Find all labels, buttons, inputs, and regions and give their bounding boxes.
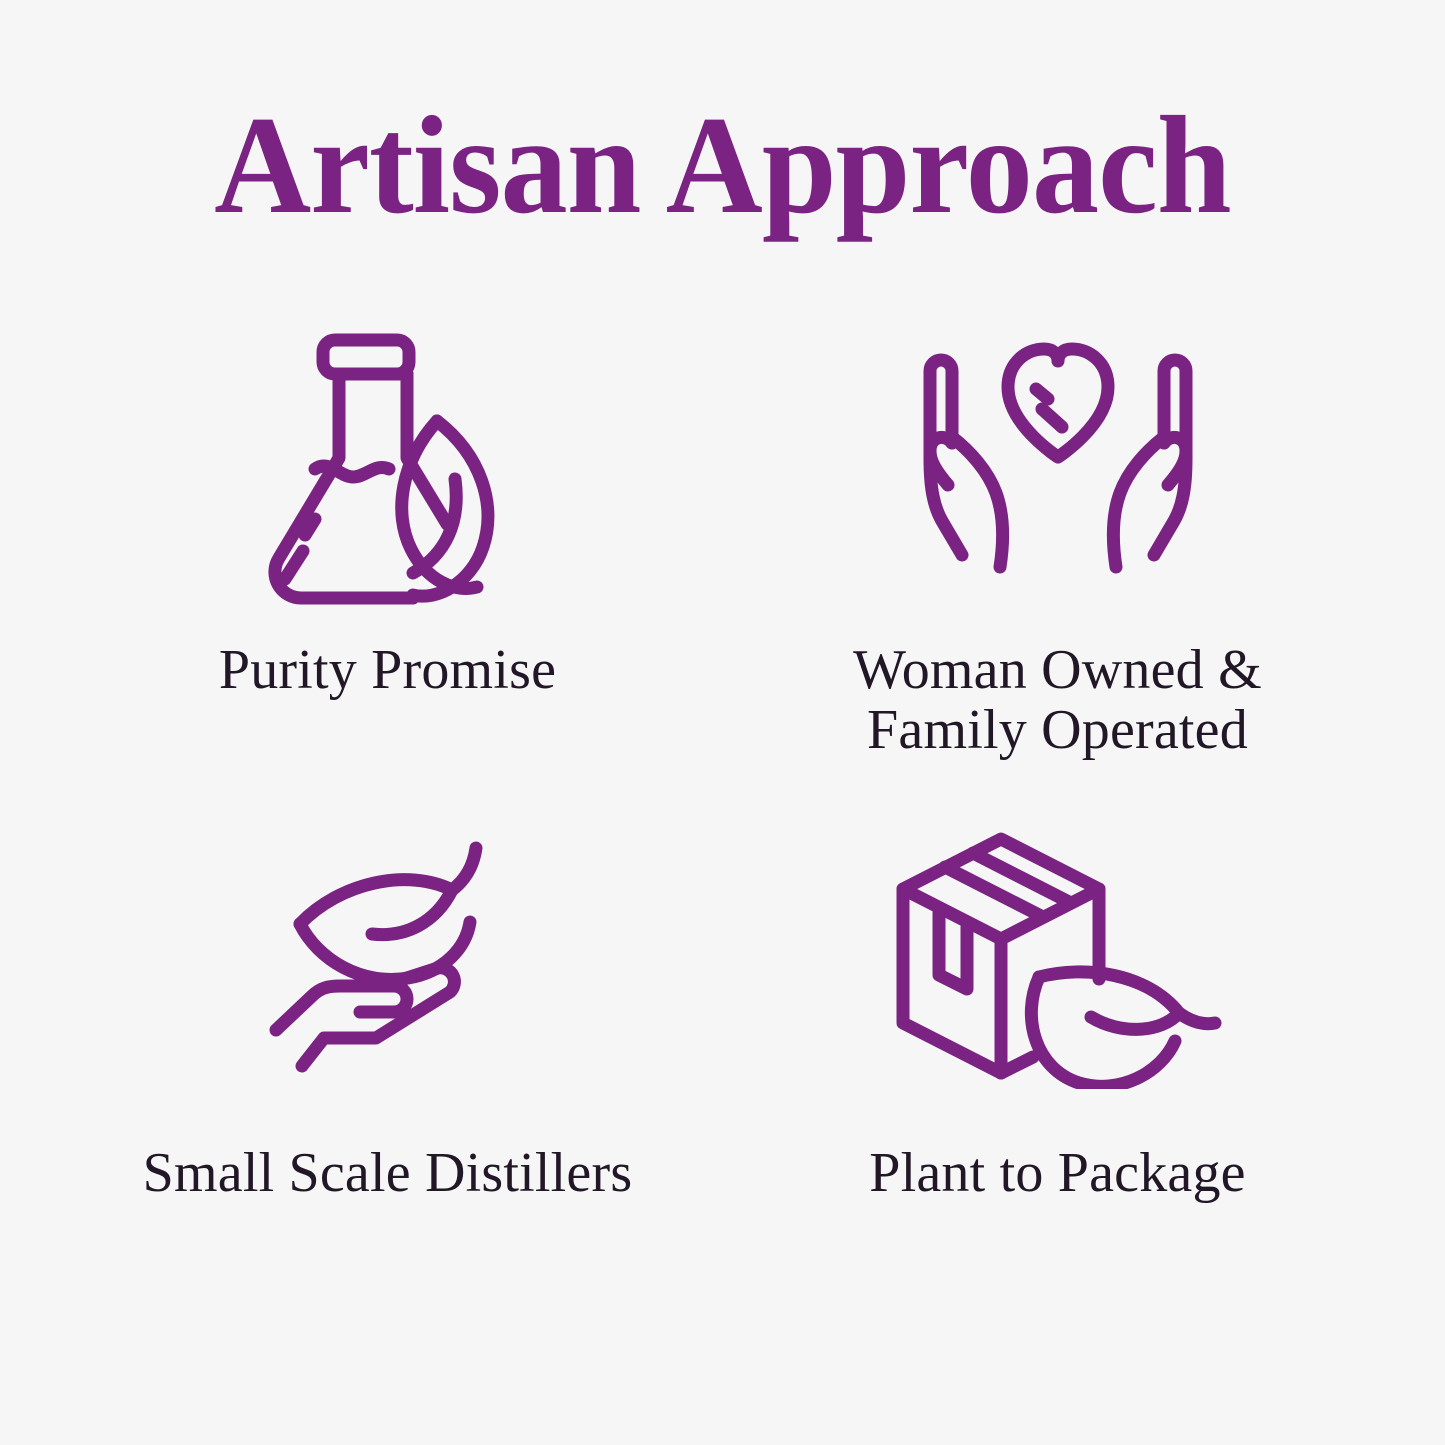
feature-item-plant-to-package: Plant to Package: [723, 813, 1393, 1260]
feature-label: Small Scale Distillers: [143, 1143, 633, 1203]
artisan-approach-graphic: Artisan Approach: [0, 0, 1445, 1445]
page-title: Artisan Approach: [214, 96, 1230, 236]
box-leaf-icon: [893, 813, 1223, 1103]
feature-grid: Purity Promise: [53, 314, 1393, 1260]
feature-label: Woman Owned & Family Operated: [853, 640, 1262, 761]
feature-item-purity-promise: Purity Promise: [53, 314, 723, 761]
feature-item-woman-owned: Woman Owned & Family Operated: [723, 314, 1393, 761]
hands-holding-heart-icon: [908, 314, 1208, 614]
leaf-in-hand-icon: [262, 813, 514, 1103]
feature-label: Plant to Package: [869, 1143, 1245, 1203]
flask-leaf-icon: [257, 314, 519, 614]
feature-label: Purity Promise: [219, 640, 556, 700]
feature-item-small-scale-distillers: Small Scale Distillers: [53, 813, 723, 1260]
